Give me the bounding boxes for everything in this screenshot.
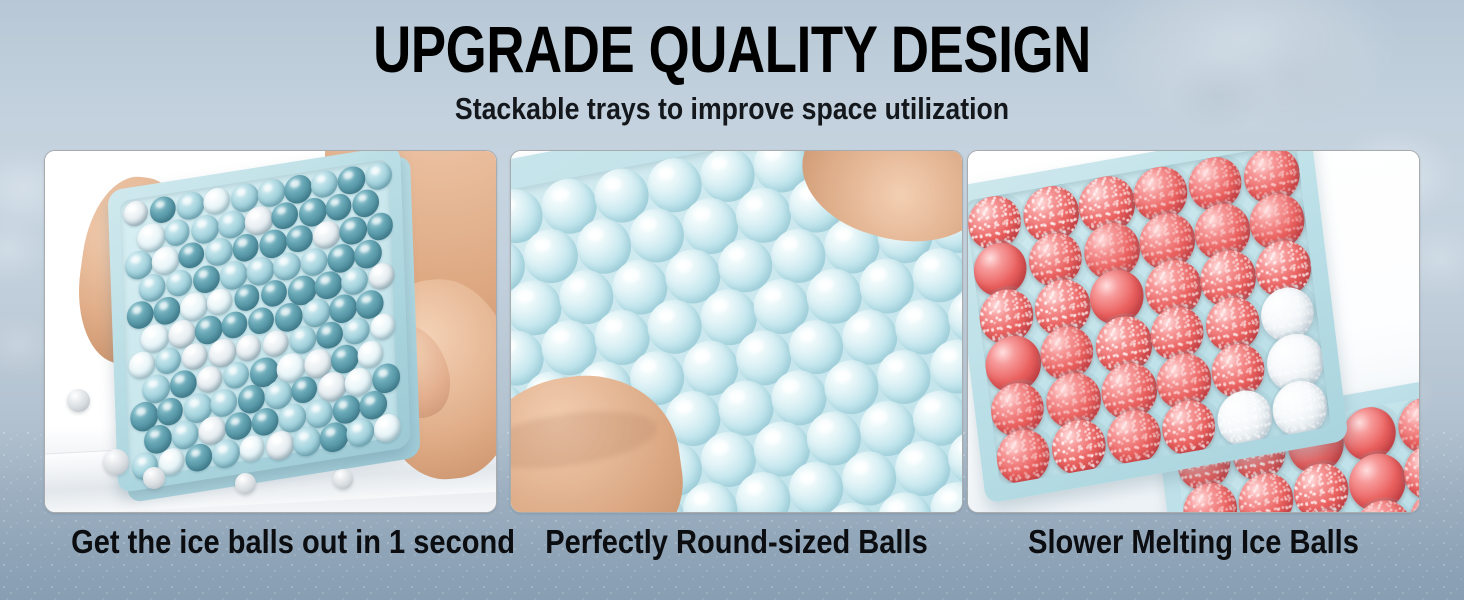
panel-2-caption: Perfectly Round-sized Balls — [537, 524, 936, 560]
tray-cavity-area — [120, 159, 398, 479]
loose-ice-ball — [67, 389, 90, 412]
ice-ball — [364, 160, 392, 192]
ice-ball — [235, 333, 261, 363]
panel-1-caption: Get the ice balls out in 1 second — [71, 524, 470, 560]
ice-ball — [266, 429, 295, 462]
panel-3-scene — [968, 151, 1419, 512]
panel-2-scene — [511, 151, 962, 512]
ice-ball — [178, 240, 204, 270]
tray-cavity-area-upper — [967, 150, 1331, 485]
loose-ice-ball — [333, 469, 353, 489]
page-title: UPGRADE QUALITY DESIGN — [146, 16, 1317, 82]
ice-tray — [108, 150, 411, 493]
panel-3-caption: Slower Melting Ice Balls — [994, 524, 1393, 560]
page-subtitle: Stackable trays to improve space utiliza… — [102, 92, 1361, 125]
marketing-banner: UPGRADE QUALITY DESIGN Stackable trays t… — [0, 0, 1464, 600]
panel-1-scene — [45, 151, 496, 512]
loose-ice-ball — [103, 449, 129, 475]
ice-ball — [123, 198, 149, 228]
feature-panel-1 — [44, 150, 497, 513]
feature-panel-2 — [510, 150, 963, 513]
feature-panel-3 — [967, 150, 1420, 513]
ice-ball — [221, 310, 247, 340]
ice-ball — [239, 434, 265, 464]
loose-ice-ball — [143, 467, 165, 489]
loose-ice-ball — [235, 473, 256, 494]
